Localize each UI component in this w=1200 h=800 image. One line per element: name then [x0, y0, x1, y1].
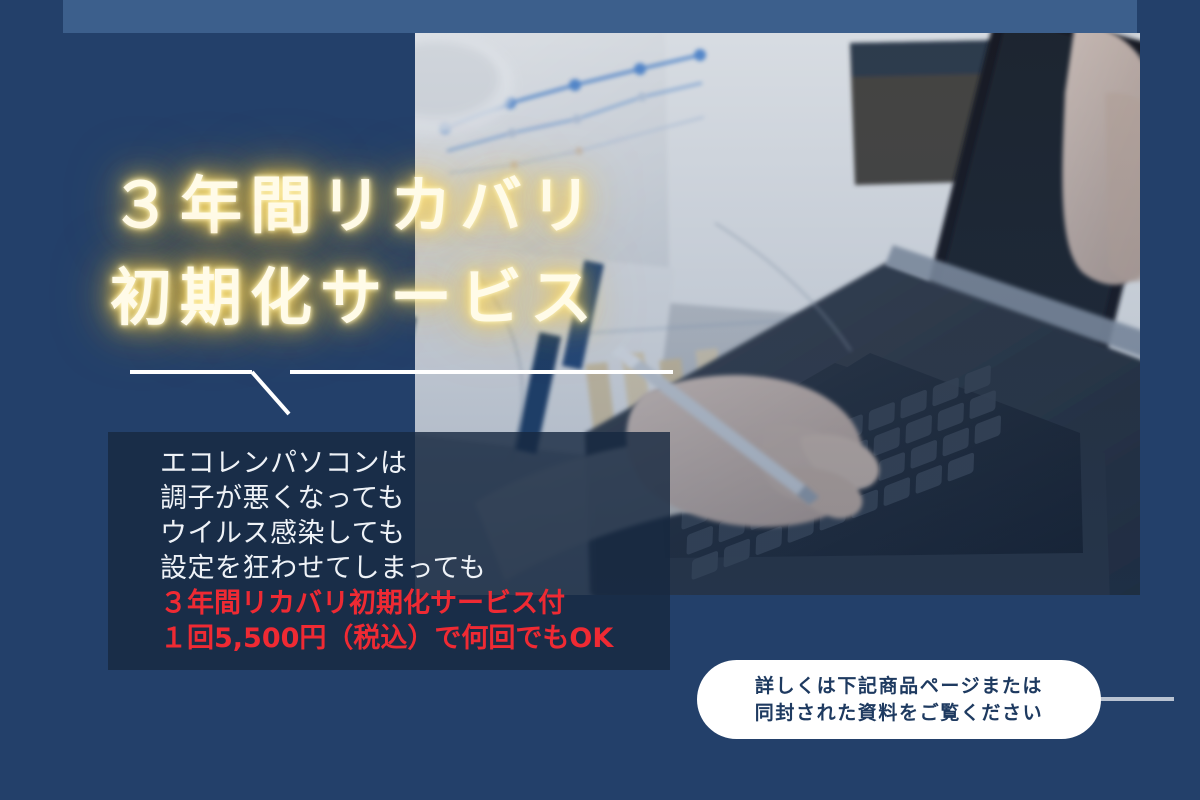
cta-pill[interactable]: 詳しくは下記商品ページまたは 同封された資料をご覧ください — [697, 660, 1101, 739]
headline-line-2: 初期化サービス — [110, 252, 850, 344]
cta-pill-line-2: 同封された資料をご覧ください — [755, 700, 1043, 727]
description-panel: エコレンパソコンは 調子が悪くなっても ウイルス感染しても 設定を狂わせてしまっ… — [108, 432, 670, 670]
description-line-5-highlight: ３年間リカバリ初期化サービス付 — [160, 586, 670, 621]
promo-banner: ３年間リカバリ 初期化サービス エコレンパソコンは 調子が悪くなっても ウイルス… — [0, 0, 1200, 800]
top-accent-bar — [63, 0, 1137, 33]
headline-line-1: ３年間リカバリ — [110, 160, 850, 252]
description-line-1: エコレンパソコンは — [160, 446, 670, 481]
description-line-3: ウイルス感染しても — [160, 516, 670, 551]
page-title: ３年間リカバリ 初期化サービス — [110, 160, 850, 344]
description-line-4: 設定を狂わせてしまっても — [160, 551, 670, 586]
cta-pill-line-1: 詳しくは下記商品ページまたは — [755, 673, 1043, 700]
description-line-6-highlight: １回5,500円（税込）で何回でもOK — [160, 621, 670, 656]
description-line-2: 調子が悪くなっても — [160, 481, 670, 516]
